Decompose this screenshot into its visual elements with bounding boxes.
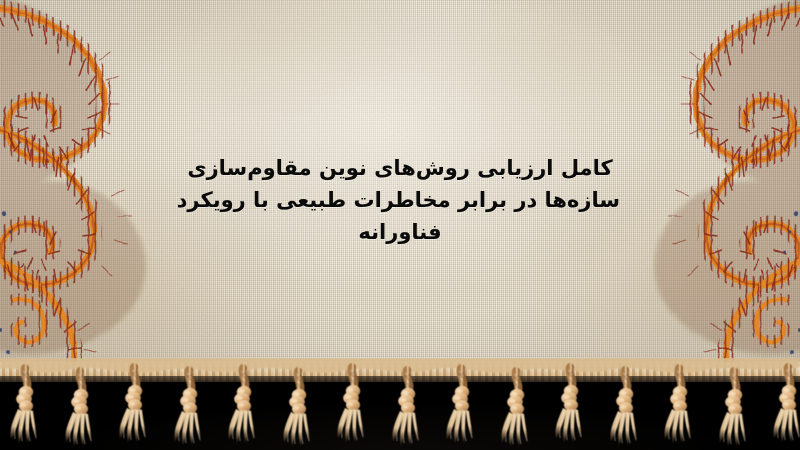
title-line-2: سازه‌ها در برابر مخاطرات طبیعی با رویکرد xyxy=(180,184,620,216)
tassel-fringe xyxy=(0,358,800,450)
title-line-1: کامل ارزیابی روش‌های نوین مقاوم‌سازی xyxy=(180,152,620,184)
title-card-canvas: کامل ارزیابی روش‌های نوین مقاوم‌سازی ساز… xyxy=(0,0,800,450)
title-line-3: فناورانه xyxy=(180,216,620,248)
page-title: کامل ارزیابی روش‌های نوین مقاوم‌سازی ساز… xyxy=(180,152,620,248)
